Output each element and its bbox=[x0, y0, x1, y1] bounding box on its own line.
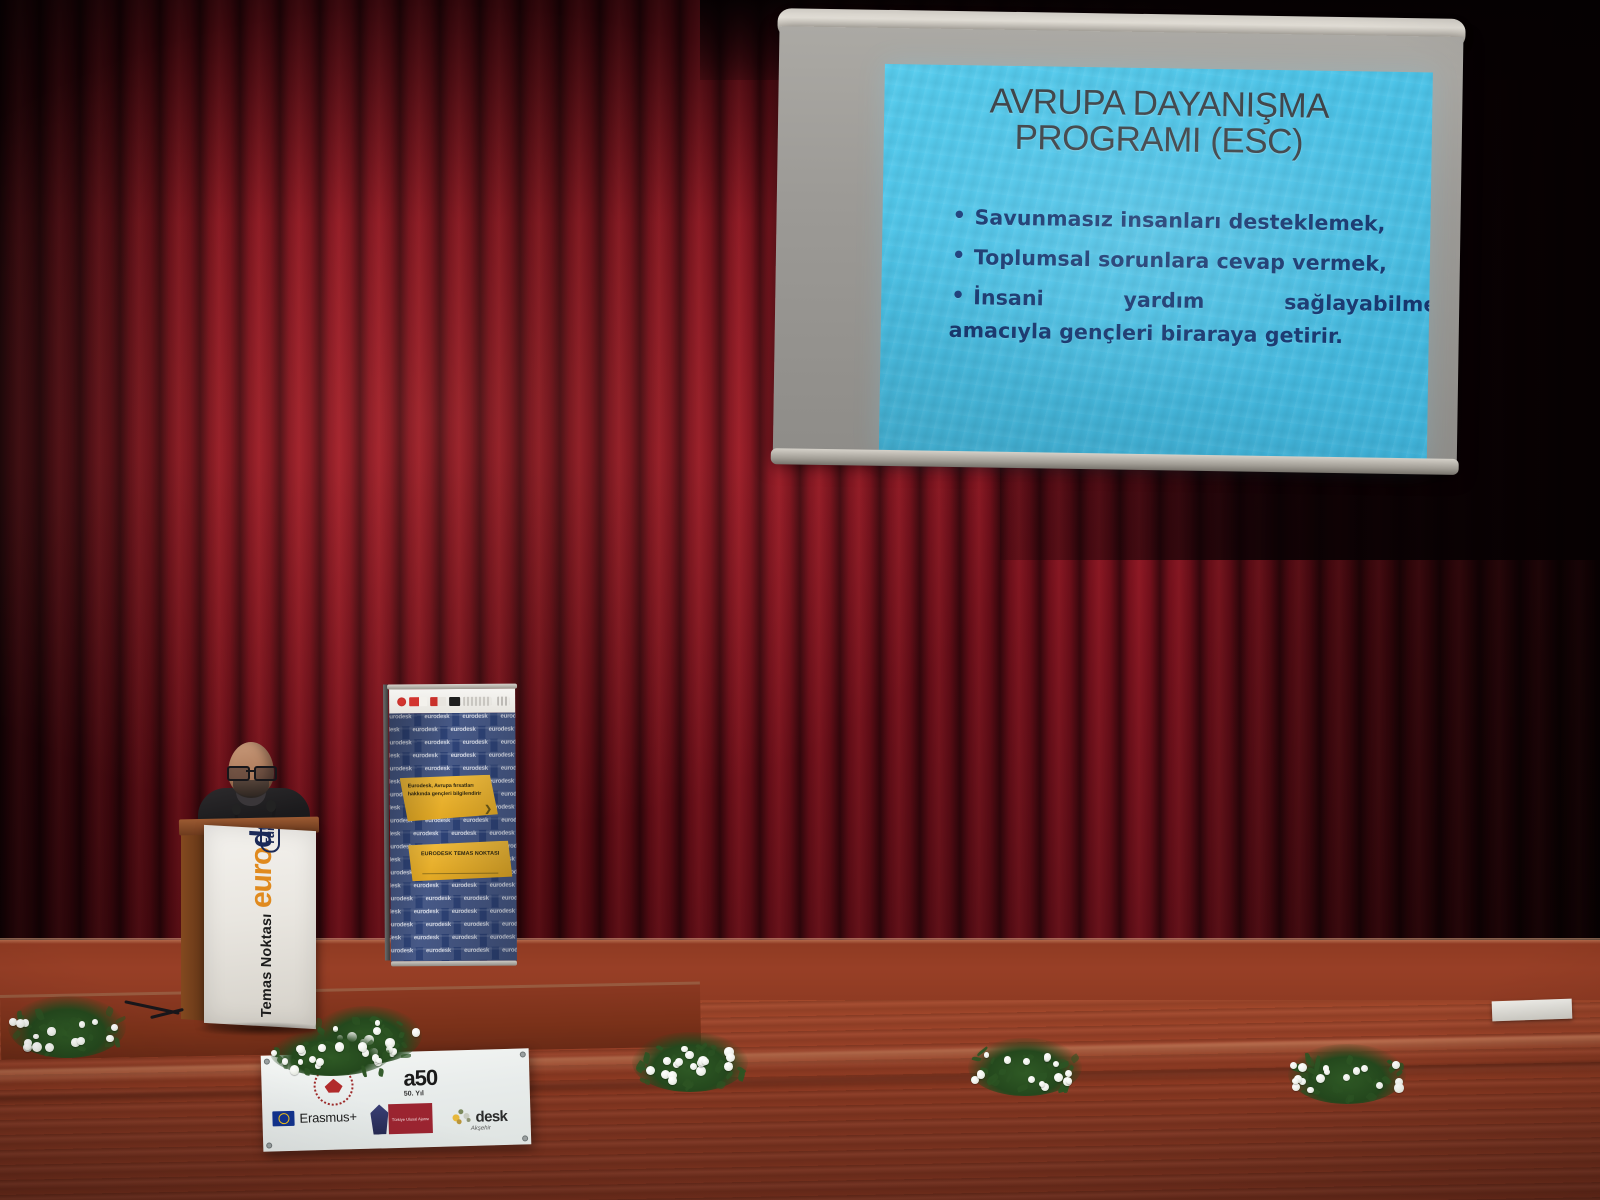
rollup-pattern-word: eurodesk bbox=[389, 739, 414, 752]
rollup-pattern-word: eurodesk bbox=[448, 830, 479, 843]
eurodesk-logo: desk bbox=[450, 1107, 507, 1127]
rollup-callout-2-text: EURODESK TEMAS NOKTASI bbox=[416, 851, 504, 859]
rollup-pattern-word: eurodesk bbox=[389, 752, 402, 765]
eurodesk-logo-icon bbox=[497, 696, 509, 705]
erasmus-plus-logo: Erasmus+ bbox=[272, 1109, 357, 1126]
microphone-head-left bbox=[232, 804, 241, 815]
arrangement-rose bbox=[47, 1027, 55, 1035]
anniversary-mark-sub: 50. Yıl bbox=[404, 1090, 438, 1098]
arrangement-rose bbox=[77, 1037, 85, 1045]
podium-temas-noktasi-label: Temas Noktası bbox=[259, 913, 275, 1018]
arrangement-rose bbox=[675, 1058, 683, 1066]
rollup-pattern-word: eurodesk bbox=[389, 765, 415, 778]
eurodesk-city-label: Akşehir bbox=[471, 1125, 491, 1132]
arrangement-rose bbox=[271, 1050, 277, 1056]
arrangement-rose bbox=[1392, 1061, 1400, 1069]
flower-arrangement bbox=[8, 996, 126, 1058]
arrangement-rose bbox=[668, 1076, 677, 1085]
arrangement-rose bbox=[663, 1057, 671, 1065]
arrangement-leaf bbox=[695, 1049, 700, 1057]
arrangement-rose bbox=[984, 1052, 990, 1058]
rollup-pattern-word: eurodesk bbox=[498, 764, 517, 777]
rollup-word-pattern: eurodeskeurodeskeurodeskeurodeskeurodesk… bbox=[389, 713, 515, 714]
arrangement-rose bbox=[318, 1044, 326, 1052]
arrangement-rose bbox=[79, 1021, 85, 1027]
rollup-pattern-word: eurodesk bbox=[389, 882, 403, 895]
arrangement-leaf bbox=[16, 1011, 22, 1020]
banner-grommet-tr bbox=[520, 1051, 526, 1057]
rollup-pattern-word: eurodesk bbox=[389, 921, 416, 934]
rollup-pattern-word: eurodesk bbox=[498, 790, 517, 803]
rollup-base bbox=[391, 961, 517, 967]
speaker-glasses-icon bbox=[227, 766, 275, 777]
rollup-pattern-word: eurodesk bbox=[410, 752, 441, 765]
rollup-pattern-word: eurodesk bbox=[486, 726, 517, 739]
projection-screen: AVRUPA DAYANIŞMA PROGRAMI (ESC) Savunmas… bbox=[758, 0, 1465, 487]
arrangement-rose bbox=[92, 1019, 98, 1025]
arrangement-rose bbox=[358, 1042, 367, 1051]
arrangement-rose bbox=[1292, 1078, 1299, 1085]
rollup-body: eurodeskeurodeskeurodeskeurodeskeurodesk… bbox=[389, 713, 517, 962]
rollup-pattern-word: eurodesk bbox=[423, 947, 454, 960]
rollup-pattern-word: eurodesk bbox=[460, 739, 491, 752]
rollup-pattern-word: eurodesk bbox=[411, 908, 442, 921]
eurodesk-burst-icon bbox=[450, 1108, 474, 1127]
podium-turkiye-label: Türkiye bbox=[260, 825, 280, 853]
arrangement-leaf bbox=[1035, 1072, 1047, 1079]
podium-front-banner: Temas Noktası eurodesk Türkiye bbox=[204, 825, 316, 1029]
rollup-banner: eurodeskeurodeskeurodeskeurodeskeurodesk… bbox=[387, 678, 519, 967]
arrangement-rose bbox=[1044, 1053, 1052, 1061]
slide-bullet-3-line-2: amacıyla gençleri biraraya getirir. bbox=[949, 317, 1433, 349]
screen-surface: AVRUPA DAYANIŞMA PROGRAMI (ESC) Savunmas… bbox=[773, 26, 1464, 469]
arrangement-leaf bbox=[352, 1016, 360, 1024]
rollup-pattern-word: eurodesk bbox=[410, 882, 441, 895]
glasses-lens-left bbox=[227, 766, 250, 781]
arrangement-rose bbox=[290, 1065, 300, 1075]
rollup-pattern-word: eurodesk bbox=[486, 752, 517, 765]
rollup-pattern-word: eurodesk bbox=[423, 921, 454, 934]
rollup-arrow-icon: ❯ bbox=[484, 804, 492, 815]
rollup-pattern-word: eurodesk bbox=[487, 908, 517, 921]
arrangement-leaf bbox=[1019, 1064, 1025, 1073]
arrangement-rose bbox=[1316, 1074, 1325, 1083]
slide-title: AVRUPA DAYANIŞMA PROGRAMI (ESC) bbox=[906, 82, 1413, 163]
podium: Temas Noktası eurodesk Türkiye bbox=[185, 826, 313, 1026]
stage-paper-prop bbox=[1492, 999, 1573, 1022]
rollup-pattern-word: eurodesk bbox=[389, 856, 403, 869]
rollup-pattern-word: eurodesk bbox=[389, 726, 402, 739]
podium-euro-label: euro bbox=[245, 847, 278, 909]
arrangement-leaf bbox=[716, 1080, 726, 1090]
flower-arrangement bbox=[968, 1038, 1082, 1096]
eu-logo-icon bbox=[449, 696, 460, 705]
eurodesk-label: desk bbox=[475, 1108, 507, 1126]
rollup-pattern-word: eurodesk bbox=[461, 895, 492, 908]
rollup-pattern-word: eurodesk bbox=[389, 908, 404, 921]
arrangement-rose bbox=[1324, 1069, 1330, 1075]
glasses-bridge bbox=[246, 770, 254, 772]
anniversary-mark-text: a50 bbox=[403, 1065, 437, 1091]
stage-scene: AVRUPA DAYANIŞMA PROGRAMI (ESC) Savunmas… bbox=[0, 0, 1600, 1200]
rollup-pattern-word: eurodesk bbox=[499, 920, 517, 933]
rollup-pattern-word: eurodesk bbox=[449, 934, 480, 947]
rollup-callout-2-underline bbox=[422, 872, 498, 874]
rollup-pattern-word: eurodesk bbox=[498, 738, 517, 751]
rollup-pattern-word: eurodesk bbox=[423, 895, 454, 908]
flower-arrangement bbox=[632, 1032, 748, 1092]
arrangement-rose bbox=[1353, 1067, 1361, 1075]
turkish-flag-logo-icon bbox=[409, 697, 427, 706]
arrangement-rose bbox=[1065, 1070, 1072, 1077]
rollup-pattern-word: eurodesk bbox=[422, 765, 453, 778]
arrangement-rose bbox=[106, 1035, 113, 1042]
arrangement-rose bbox=[685, 1051, 694, 1060]
national-agency-emblem-icon bbox=[370, 1104, 389, 1134]
flower-arrangement bbox=[1288, 1044, 1406, 1104]
rollup-pattern-word: eurodesk bbox=[449, 882, 480, 895]
rollup-pattern-word: eurodesk bbox=[389, 804, 403, 817]
banner-grommet-br bbox=[522, 1135, 528, 1141]
eu-flag-icon bbox=[272, 1111, 294, 1127]
arrangement-leaf bbox=[708, 1050, 715, 1056]
slide-bullet-3-word-1: İnsani bbox=[973, 286, 1044, 311]
arrangement-rose bbox=[298, 1059, 304, 1065]
rollup-pattern-word: eurodesk bbox=[499, 894, 517, 907]
rollup-pattern-word: eurodesk bbox=[409, 726, 440, 739]
arrangement-rose bbox=[1292, 1083, 1300, 1091]
arrangement-leaf bbox=[303, 1068, 310, 1075]
rollup-pattern-word: eurodesk bbox=[497, 713, 516, 726]
rollup-pattern-word: eurodesk bbox=[389, 713, 414, 726]
partner-wordmark-icon bbox=[463, 696, 491, 705]
rollup-pattern-word: eurodesk bbox=[389, 830, 403, 843]
slide-bullet-3: İnsani yardım sağlayabilmek amacıyla gen… bbox=[947, 285, 1433, 349]
erasmus-plus-label: Erasmus+ bbox=[299, 1109, 357, 1126]
arrangement-rose bbox=[724, 1062, 733, 1071]
arrangement-rose bbox=[702, 1058, 709, 1065]
arrangement-rose bbox=[1343, 1074, 1350, 1081]
slide-bullet-3-word-2: yardım bbox=[1123, 288, 1204, 313]
rollup-pattern-word: eurodesk bbox=[499, 946, 517, 959]
agency-logo-icon bbox=[430, 697, 446, 706]
podium-banner-text: Temas Noktası eurodesk bbox=[245, 825, 279, 1018]
arrangement-rose bbox=[681, 1046, 688, 1053]
flower-arrangement bbox=[270, 1030, 392, 1076]
rollup-pattern-word: eurodesk bbox=[449, 908, 480, 921]
rollup-pattern-word: eurodesk bbox=[460, 817, 491, 830]
ministry-logo-icon bbox=[397, 697, 406, 706]
rollup-pattern-word: eurodesk bbox=[448, 752, 479, 765]
rollup-pattern-word: eurodesk bbox=[498, 816, 517, 829]
rollup-pattern-word: eurodesk bbox=[389, 947, 416, 960]
slide-bullet-list: Savunmasız insanları desteklemek, Toplum… bbox=[906, 204, 1433, 365]
arrangement-rose bbox=[1394, 1083, 1404, 1093]
rollup-callout-1-text: Eurodesk, Avrupa fırsatları hakkında gen… bbox=[408, 782, 490, 799]
rollup-pattern-word: eurodesk bbox=[389, 934, 404, 947]
banner-grommet-bl bbox=[266, 1142, 272, 1148]
rollup-logo-strip bbox=[389, 689, 515, 714]
arrangement-rose bbox=[375, 1020, 381, 1026]
arrangement-leaf bbox=[378, 1068, 385, 1077]
rollup-pattern-word: eurodesk bbox=[447, 726, 478, 739]
eu-stars-circle-icon bbox=[278, 1113, 289, 1124]
arrangement-leaf bbox=[401, 1054, 411, 1058]
arrangement-rose bbox=[33, 1034, 39, 1040]
slide-bullet-3-words: İnsani yardım sağlayabilmek bbox=[973, 286, 1433, 318]
arrangement-rose bbox=[1004, 1056, 1012, 1064]
slide-bullet-2: Toplumsal sorunlara cevap vermek, bbox=[948, 245, 1433, 277]
projected-slide: AVRUPA DAYANIŞMA PROGRAMI (ESC) Savunmas… bbox=[879, 64, 1433, 463]
arrangement-leaf bbox=[342, 1052, 350, 1062]
arrangement-rose bbox=[282, 1058, 288, 1064]
rollup-pattern-word: eurodesk bbox=[410, 830, 441, 843]
national-agency-label: Türkiye Ulusal Ajansı bbox=[390, 1116, 431, 1122]
arrangement-rose bbox=[335, 1042, 344, 1051]
anniversary-mark: a50 50. Yıl bbox=[403, 1067, 438, 1098]
slide-bullet-3-word-3: sağlayabilmek bbox=[1284, 291, 1433, 318]
ministry-emblem-shape bbox=[324, 1078, 342, 1092]
slide-title-line-2: PROGRAMI (ESC) bbox=[906, 119, 1413, 163]
glasses-lens-right bbox=[254, 766, 277, 781]
microphone-head-right bbox=[266, 800, 276, 812]
rollup-pattern-word: eurodesk bbox=[411, 934, 442, 947]
rollup-pattern-word: eurodesk bbox=[461, 921, 492, 934]
arrangement-rose bbox=[412, 1028, 420, 1036]
rollup-pattern-word: eurodesk bbox=[459, 713, 490, 726]
arrangement-rose bbox=[24, 1043, 31, 1050]
rollup-pattern-word: eurodesk bbox=[421, 713, 452, 726]
rollup-pattern-word: eurodesk bbox=[487, 934, 517, 947]
national-agency-logo: Türkiye Ulusal Ajansı bbox=[370, 1103, 433, 1135]
rollup-pattern-word: eurodesk bbox=[486, 830, 517, 843]
rollup-callout-1: Eurodesk, Avrupa fırsatları hakkında gen… bbox=[400, 775, 498, 822]
slide-bullet-1: Savunmasız insanları desteklemek, bbox=[948, 205, 1433, 237]
national-agency-name-box: Türkiye Ulusal Ajansı bbox=[388, 1103, 433, 1134]
arrangement-rose bbox=[32, 1042, 42, 1052]
rollup-pattern-word: eurodesk bbox=[421, 739, 452, 752]
arrangement-rose bbox=[1023, 1058, 1030, 1065]
rollup-callout-2: EURODESK TEMAS NOKTASI bbox=[408, 841, 512, 882]
rollup-pattern-word: eurodesk bbox=[389, 895, 415, 908]
rollup-pattern-word: eurodesk bbox=[461, 947, 492, 960]
rollup-pattern-word: eurodesk bbox=[487, 882, 517, 895]
